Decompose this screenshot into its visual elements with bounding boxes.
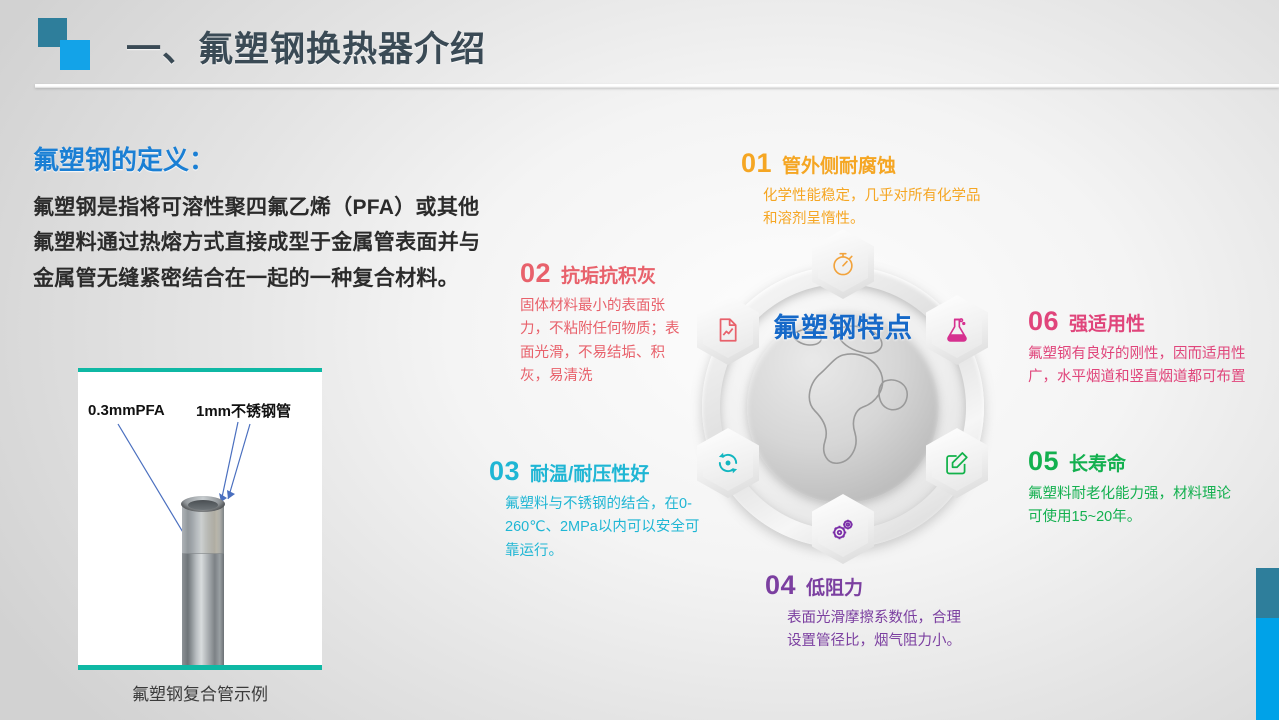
feature-block-06: 06 强适用性 氟塑钢有良好的刚性，因而适用性广，水平烟道和竖直烟道都可布置	[1028, 306, 1258, 390]
edge-accent-dark	[1256, 568, 1279, 618]
feature-title: 低阻力	[806, 573, 863, 600]
feature-number: 03	[489, 456, 520, 487]
feature-body: 固体材料最小的表面张力，不粘附任何物质；表面光滑，不易结垢、积灰，易清洗	[520, 295, 680, 389]
recycle-arrows-icon	[714, 449, 742, 477]
feature-heading: 04 低阻力	[765, 570, 965, 601]
feature-title: 长寿命	[1069, 449, 1126, 476]
chart-document-icon	[714, 316, 742, 344]
photo-inner: 0.3mmPFA 1mm不锈钢管	[78, 372, 322, 665]
edge-accent-blue	[1256, 618, 1279, 720]
features-circle-diagram: 氟塑钢特点	[668, 232, 1018, 582]
header-divider	[35, 84, 1279, 88]
definition-paragraph: 氟塑钢是指将可溶性聚四氟乙烯（PFA）或其他氟塑料通过热熔方式直接成型于金属管表…	[33, 190, 483, 296]
feature-block-04: 04 低阻力 表面光滑摩擦系数低，合理设置管径比，烟气阻力小。	[765, 570, 965, 654]
page-title: 一、氟塑钢换热器介绍	[126, 21, 486, 72]
feature-number: 05	[1028, 446, 1059, 477]
feature-body: 表面光滑摩擦系数低，合理设置管径比，烟气阻力小。	[787, 607, 965, 654]
feature-body: 化学性能稳定，几乎对所有化学品和溶剂呈惰性。	[763, 185, 981, 232]
hex-node-stopwatch[interactable]	[812, 229, 874, 299]
feature-title: 强适用性	[1069, 309, 1145, 336]
photo-caption: 氟塑钢复合管示例	[78, 680, 322, 705]
hex-node-flask[interactable]	[926, 295, 988, 365]
feature-heading: 06 强适用性	[1028, 306, 1258, 337]
header-square-blue	[60, 40, 90, 70]
hex-node-chart-doc[interactable]	[697, 295, 759, 365]
pencil-edit-icon	[943, 449, 971, 477]
feature-heading: 05 长寿命	[1028, 446, 1243, 477]
feature-number: 01	[741, 148, 772, 179]
feature-heading: 01 管外侧耐腐蚀	[741, 148, 981, 179]
feature-title: 耐温/耐压性好	[530, 459, 649, 486]
feature-body: 氟塑钢有良好的刚性，因而适用性广，水平烟道和竖直烟道都可布置	[1028, 343, 1258, 390]
feature-block-05: 05 长寿命 氟塑料耐老化能力强，材料理论可使用15~20年。	[1028, 446, 1243, 530]
feature-number: 04	[765, 570, 796, 601]
feature-block-01: 01 管外侧耐腐蚀 化学性能稳定，几乎对所有化学品和溶剂呈惰性。	[741, 148, 981, 232]
feature-body: 氟塑料耐老化能力强，材料理论可使用15~20年。	[1028, 483, 1243, 530]
feature-title: 管外侧耐腐蚀	[782, 151, 896, 178]
feature-title: 抗垢抗积灰	[561, 261, 656, 288]
gears-icon	[829, 515, 857, 543]
feature-body: 氟塑料与不锈钢的结合，在0-260℃、2MPa以内可以安全可靠运行。	[505, 493, 704, 563]
stopwatch-icon	[829, 250, 857, 278]
pipe-bore	[188, 500, 218, 510]
definition-heading: 氟塑钢的定义：	[33, 140, 215, 177]
flask-icon	[943, 316, 971, 344]
hex-node-gears[interactable]	[812, 494, 874, 564]
hex-node-recycle[interactable]	[697, 428, 759, 498]
feature-number: 06	[1028, 306, 1059, 337]
feature-heading: 03 耐温/耐压性好	[489, 456, 704, 487]
feature-heading: 02 抗垢抗积灰	[520, 258, 680, 289]
feature-block-03: 03 耐温/耐压性好 氟塑料与不锈钢的结合，在0-260℃、2MPa以内可以安全…	[489, 456, 704, 563]
composite-pipe-photo: 0.3mmPFA 1mm不锈钢管	[78, 368, 322, 670]
feature-block-02: 02 抗垢抗积灰 固体材料最小的表面张力，不粘附任何物质；表面光滑，不易结垢、积…	[520, 258, 680, 389]
hex-node-edit[interactable]	[926, 428, 988, 498]
feature-number: 02	[520, 258, 551, 289]
